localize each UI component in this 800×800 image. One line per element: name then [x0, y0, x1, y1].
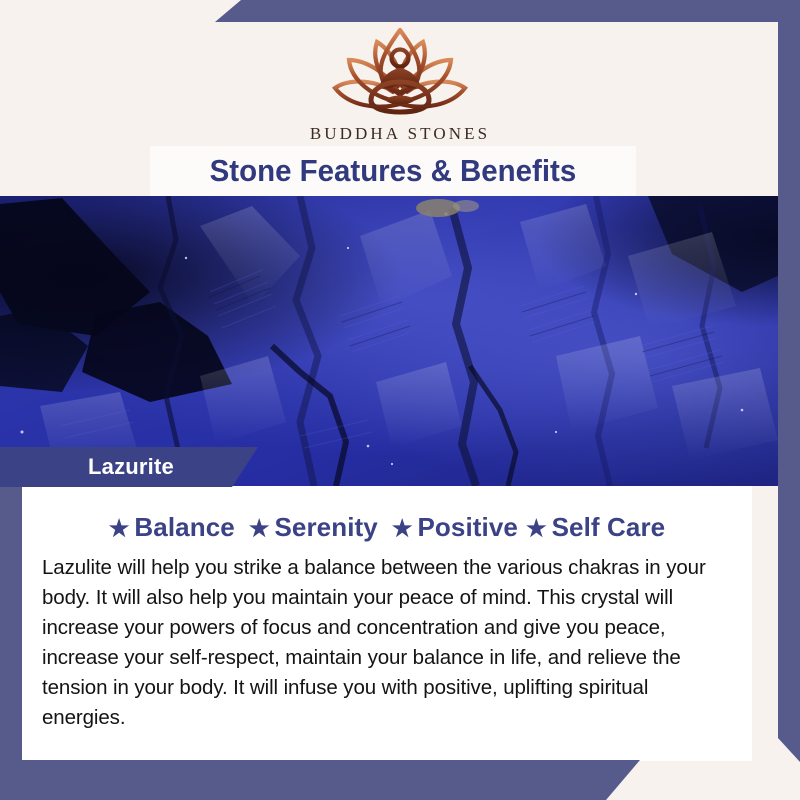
keyword-label: Serenity — [274, 512, 377, 543]
lotus-meditation-icon — [305, 18, 495, 122]
poster-root: BUDDHA STONES Stone Features & Benefits … — [0, 0, 800, 800]
keyword-self-care: ★ Self Care — [526, 512, 665, 543]
star-icon: ★ — [249, 517, 270, 540]
stone-name-label: Lazurite — [88, 454, 174, 480]
star-icon: ★ — [526, 517, 547, 540]
frame-right-strip — [778, 0, 800, 762]
frame-top-strip — [215, 0, 800, 22]
keyword-label: Self Care — [552, 512, 666, 543]
brand-name: BUDDHA STONES — [0, 124, 800, 144]
lazurite-stone-photo — [0, 196, 800, 486]
page-title: Stone Features & Benefits — [210, 153, 577, 189]
star-icon: ★ — [392, 517, 413, 540]
stone-name-tag: Lazurite — [0, 447, 258, 487]
keyword-positive: ★ Positive — [392, 512, 518, 543]
content-card: ★ Balance ★ Serenity ★ Positive ★ Self C… — [22, 486, 752, 761]
stone-photo-graphic — [0, 196, 800, 486]
star-icon: ★ — [109, 517, 130, 540]
keyword-serenity: ★ Serenity — [249, 512, 378, 543]
title-banner: Stone Features & Benefits — [150, 146, 636, 196]
keyword-label: Positive — [417, 512, 518, 543]
keyword-label: Balance — [134, 512, 234, 543]
frame-bottom-strip — [0, 760, 640, 800]
frame-left-strip — [0, 484, 22, 800]
keyword-list: ★ Balance ★ Serenity ★ Positive ★ Self C… — [36, 512, 738, 543]
brand-logo: BUDDHA STONES — [0, 18, 800, 144]
stone-description: Lazulite will help you strike a balance … — [36, 553, 738, 733]
keyword-balance: ★ Balance — [109, 512, 235, 543]
